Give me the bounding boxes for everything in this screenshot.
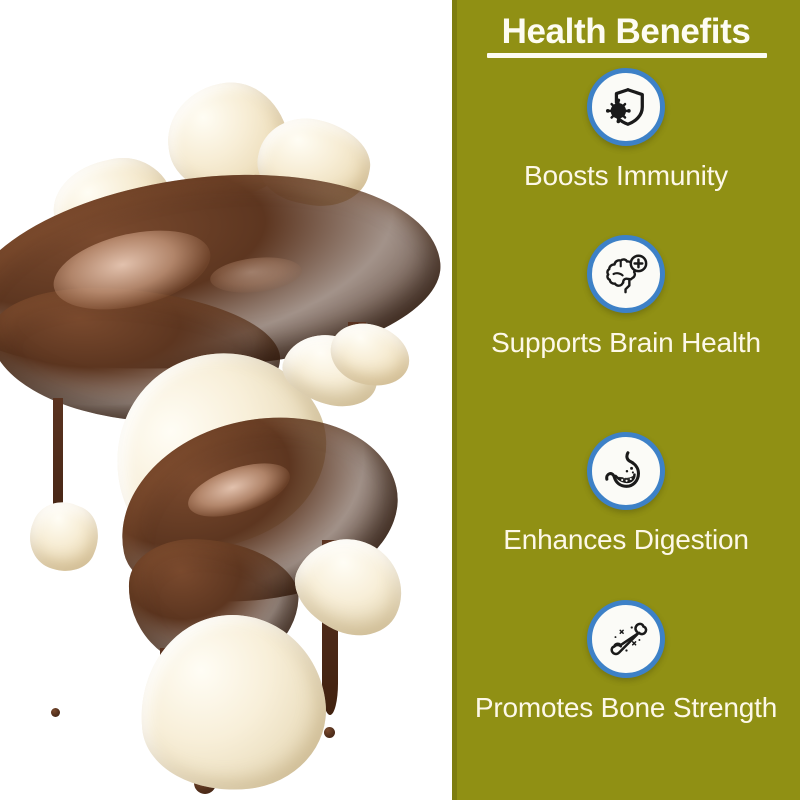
health-benefits-panel: Health Benefits <box>452 0 800 800</box>
shield-virus-icon <box>587 68 665 146</box>
benefit-label: Supports Brain Health <box>452 327 800 358</box>
chocolate-droplet <box>324 727 335 738</box>
title-underline <box>487 53 767 58</box>
brain-plus-icon <box>587 235 665 313</box>
benefit-item-brain-health[interactable]: Supports Brain Health <box>452 235 800 358</box>
benefit-label: Enhances Digestion <box>452 524 800 555</box>
benefit-item-bone-strength[interactable]: Promotes Bone Strength <box>452 600 800 723</box>
bone-icon <box>587 600 665 678</box>
stomach-icon <box>587 432 665 510</box>
cashew-piece <box>20 493 109 582</box>
page-title: Health Benefits <box>452 14 800 51</box>
benefit-item-digestion[interactable]: Enhances Digestion <box>452 432 800 555</box>
benefit-label: Promotes Bone Strength <box>452 692 800 723</box>
benefit-label: Boosts Immunity <box>452 160 800 191</box>
chocolate-droplet <box>51 708 60 717</box>
product-infographic: Health Benefits <box>0 0 800 800</box>
benefit-item-immunity[interactable]: Boosts Immunity <box>452 68 800 191</box>
product-image-panel <box>0 0 452 800</box>
